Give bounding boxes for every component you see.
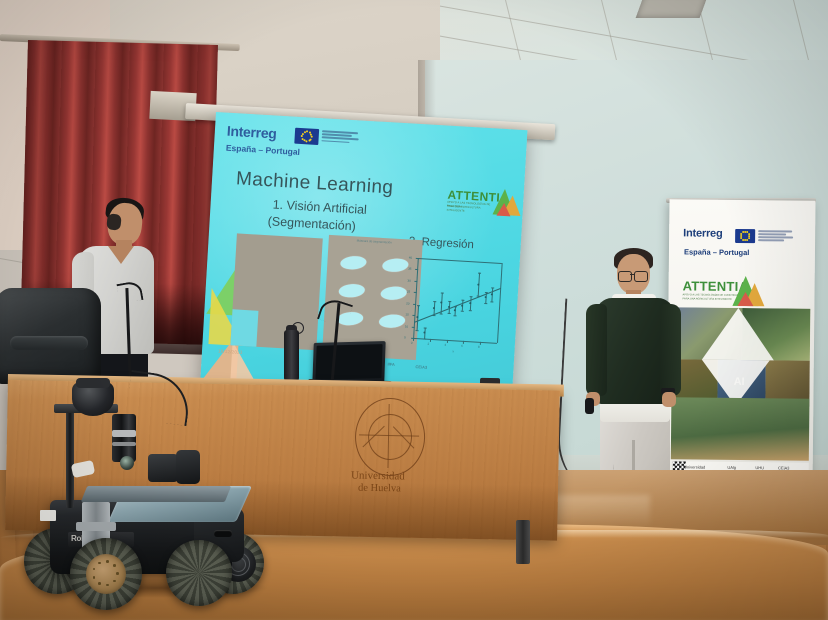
chair-lumbar-support xyxy=(10,336,88,350)
slide-attentia-logo: ATTENTIA APOYO A LAS TECNOLOGÍAS DE FRON… xyxy=(446,184,520,222)
eu-star-icon xyxy=(301,135,303,137)
chart-error-cap xyxy=(461,300,464,301)
banner-region-label: España – Portugal xyxy=(684,247,750,257)
lidar-top-cap xyxy=(76,378,110,388)
chart-y-ticklabel: 10 xyxy=(405,324,409,328)
wheel-lug xyxy=(98,582,101,585)
chart-error-cap xyxy=(448,301,451,302)
wheel-lug xyxy=(93,568,96,571)
robot-wheel-hub xyxy=(86,554,126,594)
chart-error-cap xyxy=(492,288,495,289)
wheel-lug xyxy=(93,576,96,579)
eu-star-icon xyxy=(303,131,305,133)
eu-star-icon xyxy=(306,130,308,132)
chart-error-cap xyxy=(440,313,443,314)
person-right-hand-right xyxy=(662,392,676,407)
banner-attentia-tagline-2: PARA UNA AGRICULTURA INTELIGENTE xyxy=(682,297,738,302)
chart-x-ticklabel: 6 xyxy=(461,344,463,348)
chart-y-ticklabel: 5 xyxy=(404,335,406,339)
wheel-lug xyxy=(113,564,116,567)
wheel-lug xyxy=(98,562,101,565)
eu-star-icon xyxy=(744,239,746,241)
wheel-lug xyxy=(113,580,116,583)
camera-lens-ring xyxy=(112,442,136,446)
wheel-lug xyxy=(116,572,119,575)
glasses-bridge xyxy=(630,274,635,275)
chart-error-cap xyxy=(424,327,427,328)
regression-chart: 02468510152025303540x xyxy=(402,253,505,355)
chart-error-cap xyxy=(417,305,420,306)
eu-star-icon xyxy=(741,233,743,235)
field-robot: Robotnik xyxy=(24,382,274,610)
podium-university-line1: Universidad xyxy=(351,469,405,482)
chart-error-cap xyxy=(434,301,437,302)
chart-error-cap xyxy=(469,297,472,298)
chart-x-tick xyxy=(463,341,464,344)
chart-error-cap xyxy=(447,312,450,313)
banner-interreg-logo: Interreg xyxy=(683,227,722,239)
segmentation-image-notch xyxy=(230,309,258,346)
chart-error-cap xyxy=(461,311,464,312)
footer-logo-ceia3: CEiA3 xyxy=(415,355,428,374)
eu-star-icon xyxy=(746,239,748,241)
water-bottle xyxy=(284,330,299,382)
chart-y-tick xyxy=(413,304,416,305)
eu-star-icon xyxy=(305,140,307,142)
camera-lens-ring xyxy=(112,430,136,437)
auditorium-photo: Interreg España – Portugal ATTENTIA APOY… xyxy=(0,0,828,620)
chart-x-tick xyxy=(480,342,481,345)
glasses-icon xyxy=(634,271,648,282)
robot-handle xyxy=(214,530,232,537)
chart-error-cap xyxy=(491,301,494,302)
chart-y-ticklabel: 20 xyxy=(406,301,410,305)
chart-x-ticklabel: 4 xyxy=(444,343,446,347)
eu-star-icon xyxy=(310,138,312,140)
slide-interreg-logo: Interreg xyxy=(226,123,277,142)
chart-y-ticklabel: 30 xyxy=(407,278,411,282)
robot-wheel-front-right xyxy=(166,540,232,606)
chart-error-cap xyxy=(423,338,426,339)
chart-error-cap xyxy=(468,310,471,311)
eu-star-icon xyxy=(742,231,744,233)
chart-top-spine xyxy=(418,258,502,264)
chart-y-ticklabel: 15 xyxy=(405,313,409,317)
eu-funding-caption xyxy=(321,130,362,145)
robot-white-component xyxy=(71,460,95,478)
banner-eu-flag-icon xyxy=(735,229,755,243)
eu-star-icon xyxy=(308,140,310,142)
chart-error-cap xyxy=(416,330,419,331)
eu-star-icon xyxy=(303,139,305,141)
chart-error-cap xyxy=(454,315,457,316)
robot-lens xyxy=(120,456,134,470)
attentia-triangle-red xyxy=(496,203,511,217)
footer-logo-iifa: IIFA xyxy=(387,352,395,370)
glasses-icon xyxy=(618,271,632,282)
wheel-lug xyxy=(106,560,109,563)
chart-error-cap xyxy=(441,293,444,294)
chart-x-ticklabel: 0 xyxy=(411,341,413,345)
chart-y-tick xyxy=(412,326,415,327)
person-right-arm-right xyxy=(660,304,681,396)
eu-star-icon xyxy=(742,239,744,241)
chart-x-ticklabel: 8 xyxy=(478,345,480,349)
banner-triangle-red xyxy=(737,292,753,306)
chart-data-point xyxy=(461,304,463,306)
chart-data-point xyxy=(469,302,471,304)
robot-sensor-box xyxy=(148,454,178,482)
chart-y-ticklabel: 40 xyxy=(409,256,413,260)
chart-y-tick xyxy=(414,292,417,293)
collage-divider-triangle xyxy=(702,308,775,361)
banner-attentia-logo: ATTENTIA APOYO A LAS TECNOLOGÍAS DE FRON… xyxy=(682,275,764,306)
eu-flag-icon xyxy=(294,128,319,145)
robot-label-plate xyxy=(40,510,56,521)
wheel-lug xyxy=(106,584,109,587)
banner-landscape-photo xyxy=(671,397,810,460)
segmentation-mask-caption: Máscara de segmentación xyxy=(357,238,392,244)
eu-star-icon xyxy=(740,235,742,237)
chart-y-tick xyxy=(411,338,414,339)
chart-y-ticklabel: 25 xyxy=(407,290,411,294)
camera-icon xyxy=(112,414,136,462)
chart-y-ticklabel: 35 xyxy=(408,267,412,271)
laptop-screen xyxy=(315,344,382,380)
chart-y-tick xyxy=(412,315,415,316)
chart-error-cap xyxy=(484,303,487,304)
chart-y-tick xyxy=(416,258,419,259)
ceiling-vent xyxy=(636,0,709,18)
chart-x-tick xyxy=(447,340,448,343)
chart-x-tick xyxy=(430,339,431,342)
chart-y-tick xyxy=(414,281,417,282)
chart-xlabel: x xyxy=(452,349,454,353)
robot-bracket-crossbar xyxy=(76,522,116,531)
eu-star-icon xyxy=(301,138,303,140)
chart-error-cap xyxy=(478,273,481,274)
robot-antenna-box xyxy=(176,450,200,484)
podium-university-line2: de Huelva xyxy=(358,483,401,495)
chart-fit-line xyxy=(414,288,500,323)
attentia-tagline-2: PARA UNA AGRICULTURA INTELIGENTE xyxy=(447,205,499,216)
rollup-banner: Interreg España – Portugal ATTENTIA APOY… xyxy=(666,199,815,491)
chart-y-tick xyxy=(415,269,418,270)
chart-x-ticklabel: 2 xyxy=(427,342,429,346)
robot-sensor-mast xyxy=(66,408,74,508)
eu-star-icon xyxy=(311,136,313,138)
robot-front-rail xyxy=(81,486,231,502)
podium-leg xyxy=(516,520,530,564)
banner-eu-caption xyxy=(758,230,798,243)
